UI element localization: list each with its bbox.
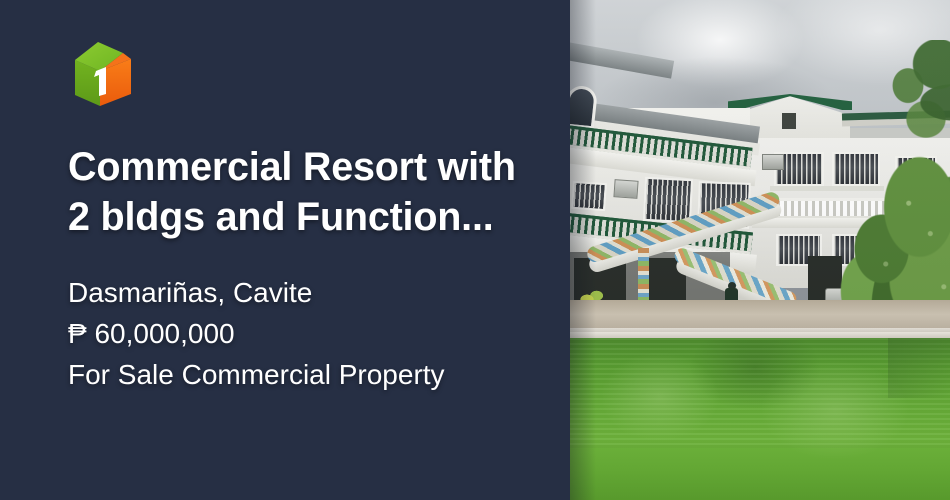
pool-far-corner bbox=[888, 338, 950, 398]
listing-info-panel: Commercial Resort with 2 bldgs and Funct… bbox=[0, 0, 570, 500]
palm-tree bbox=[842, 40, 950, 160]
listing-location: Dasmariñas, Cavite bbox=[68, 272, 538, 313]
property-listing-card: Commercial Resort with 2 bldgs and Funct… bbox=[0, 0, 950, 500]
listing-price: ₱ 60,000,000 bbox=[68, 313, 538, 354]
page-title: Commercial Resort with 2 bldgs and Funct… bbox=[68, 142, 538, 242]
window-barred bbox=[571, 181, 607, 211]
listing-type: For Sale Commercial Property bbox=[68, 354, 538, 395]
house-one-logo[interactable] bbox=[68, 38, 138, 110]
arched-window bbox=[570, 85, 598, 130]
listing-meta-list: Dasmariñas, Cavite ₱ 60,000,000 For Sale… bbox=[68, 272, 538, 395]
property-photo[interactable] bbox=[570, 0, 950, 500]
window-grille bbox=[643, 177, 693, 223]
aircon-unit bbox=[762, 154, 784, 170]
pool-shimmer bbox=[600, 352, 720, 442]
window-sill bbox=[770, 186, 828, 191]
gable-vent bbox=[782, 113, 796, 129]
aircon-unit bbox=[613, 179, 638, 199]
